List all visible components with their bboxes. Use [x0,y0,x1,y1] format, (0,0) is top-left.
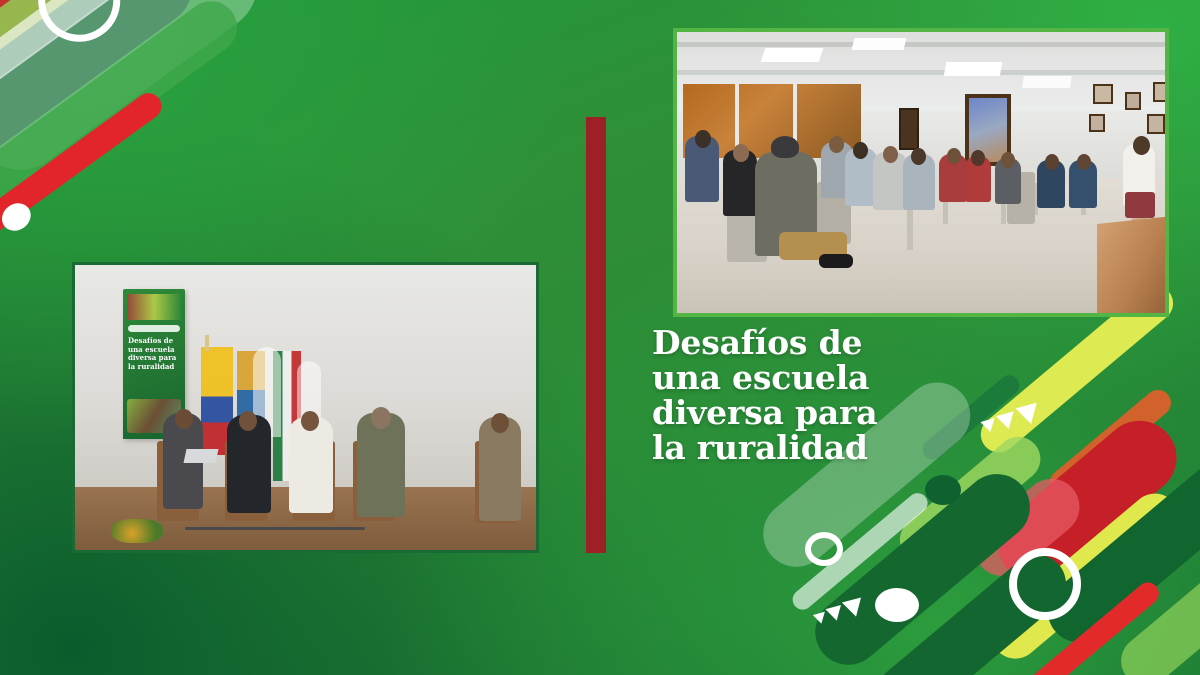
photo-person-head [301,411,319,431]
photo-ceiling-light [761,48,824,62]
deco-dot-white [875,588,919,622]
photo-ceiling-light [944,62,1002,76]
deco-arrow-cluster-upper [983,396,1053,436]
photo-framed-picture [899,108,919,150]
deco-dot-darkgreen [925,475,961,505]
red-vertical-divider [586,117,606,553]
photo-cable [185,527,365,530]
photo-presenter-skirt [1125,192,1155,218]
photo-person-head [1077,154,1091,170]
deco-ring-large [1009,548,1081,620]
photo-framed-picture [1125,92,1141,110]
photo-table-leg [907,204,913,250]
title-line-3: diversa para [652,395,982,430]
photo-workshop-audience [673,28,1169,317]
title-line-1: Desafíos de [652,325,982,360]
photo-presenter-head [1133,136,1150,155]
photo-framed-picture [1147,114,1165,134]
photo-person-head [371,407,391,429]
photo-person-head [1045,154,1059,170]
photo-ceiling-light [852,38,907,50]
slide-title: Desafíos de una escuela diversa para la … [652,325,982,465]
photo-person-head [175,409,193,429]
photo-person-head [911,148,926,165]
photo-framed-picture [1093,84,1113,104]
triangle-arrow-icon [1016,395,1045,424]
deco-ring-small [805,532,843,566]
photo-framed-picture [1089,114,1105,132]
photo-banner-text: Desafíos de una escuela diversa para la … [128,337,182,371]
photo-flag-pole-yellow [205,335,209,351]
photo-person-head [829,136,844,153]
photo-person-head [695,130,711,148]
photo-person-shoe [819,254,853,268]
photo-ceiling-beam [677,42,1165,47]
title-line-2: una escuela [652,360,982,395]
photo-person-head [883,146,898,163]
photo-person [289,417,333,513]
photo-person-head [1001,152,1015,168]
photo-person-head [733,144,749,162]
photo-person-head [491,413,509,433]
photo-person-head [971,150,985,166]
photo-person-head-cap [771,136,799,158]
photo-plant [111,519,163,543]
photo-laptop [184,449,219,463]
photo-ceiling-light [1022,76,1072,88]
photo-person-head [853,142,868,159]
photo-framed-picture [1153,82,1169,102]
photo-podium [1097,216,1169,317]
title-line-4: la ruralidad [652,430,982,465]
photo-person-head [239,411,257,431]
slide-canvas: Desafíos de una escuela diversa para la … [0,0,1200,675]
photo-panel-discussion: Desafíos de una escuela diversa para la … [72,262,539,553]
deco-arrow-cluster-lower [815,592,875,628]
triangle-arrow-icon [842,590,868,616]
photo-ceiling-beam [677,70,1165,75]
photo-person-head [947,148,961,164]
